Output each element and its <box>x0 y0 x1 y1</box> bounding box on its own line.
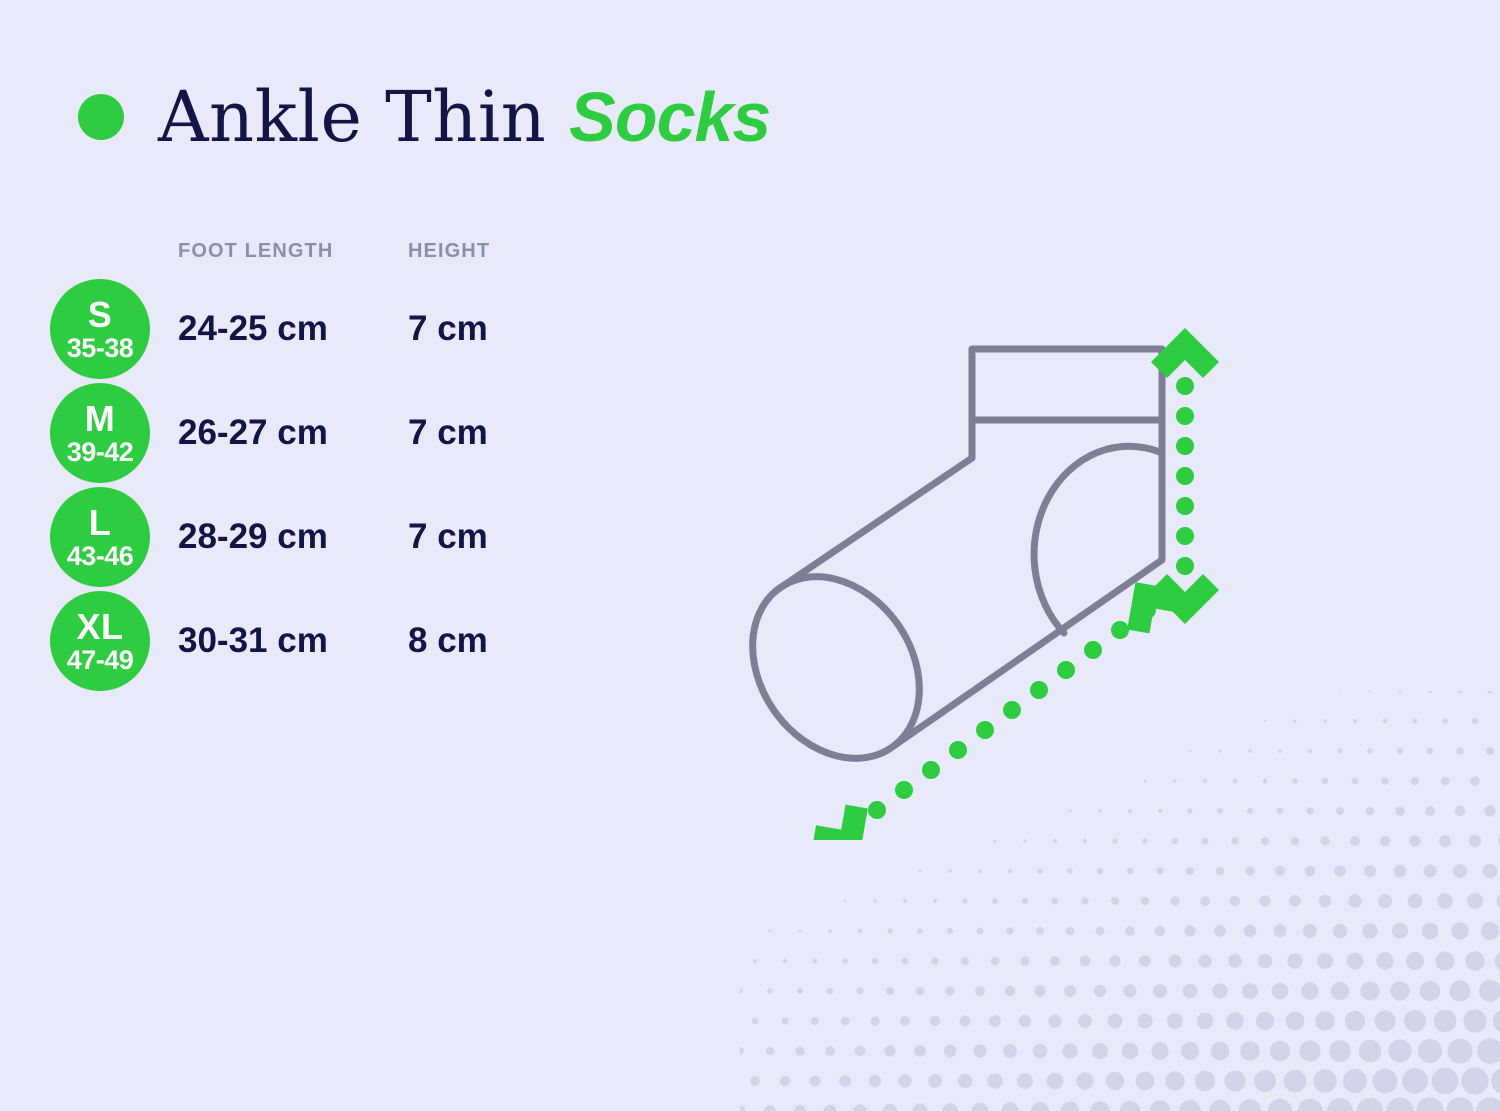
size-badge-eu-range: 35-38 <box>67 335 134 362</box>
size-badge-label: S <box>88 297 113 333</box>
ankle-sock-diagram <box>730 320 1250 840</box>
table-row: S 35-38 24-25 cm 7 cm <box>50 277 570 381</box>
height-arrow-top-icon <box>1151 328 1219 378</box>
size-badge-eu-range: 43-46 <box>67 543 134 570</box>
size-badge-label: XL <box>76 609 123 645</box>
cell-height: 7 cm <box>408 517 568 557</box>
page-title-accent: Socks <box>569 78 770 156</box>
sock-outline <box>753 349 1162 758</box>
table-row: XL 47-49 30-31 cm 8 cm <box>50 589 570 693</box>
size-badge-eu-range: 39-42 <box>67 439 134 466</box>
cell-height: 7 cm <box>408 413 568 453</box>
column-header-height: HEIGHT <box>408 240 568 263</box>
cell-foot-length: 24-25 cm <box>178 309 408 349</box>
cell-foot-length: 28-29 cm <box>178 517 408 557</box>
sock-toe-arc <box>777 577 919 745</box>
foot-length-measure-line <box>803 563 1192 840</box>
size-badge-m: M 39-42 <box>50 383 150 483</box>
size-badge-eu-range: 47-49 <box>67 647 134 674</box>
table-row: M 39-42 26-27 cm 7 cm <box>50 381 570 485</box>
cell-foot-length: 30-31 cm <box>178 621 408 661</box>
sock-body <box>753 420 1162 758</box>
size-badge-label: M <box>85 401 116 437</box>
cell-foot-length: 26-27 cm <box>178 413 408 453</box>
table-row: L 43-46 28-29 cm 7 cm <box>50 485 570 589</box>
cell-height: 8 cm <box>408 621 568 661</box>
size-badge-s: S 35-38 <box>50 279 150 379</box>
page-title: Ankle Thin Socks <box>78 82 770 152</box>
column-header-foot-length: FOOT LENGTH <box>178 240 408 263</box>
cell-height: 7 cm <box>408 309 568 349</box>
size-table: FOOT LENGTH HEIGHT S 35-38 24-25 cm 7 cm… <box>50 240 570 693</box>
size-badge-label: L <box>89 505 112 541</box>
bullet-dot-icon <box>78 94 124 140</box>
page-title-text: Ankle Thin Socks <box>158 82 770 152</box>
page-title-main: Ankle Thin <box>158 76 546 158</box>
table-header-row: FOOT LENGTH HEIGHT <box>50 240 570 263</box>
sock-cuff <box>972 349 1162 420</box>
size-badge-xl: XL 47-49 <box>50 591 150 691</box>
size-badge-l: L 43-46 <box>50 487 150 587</box>
